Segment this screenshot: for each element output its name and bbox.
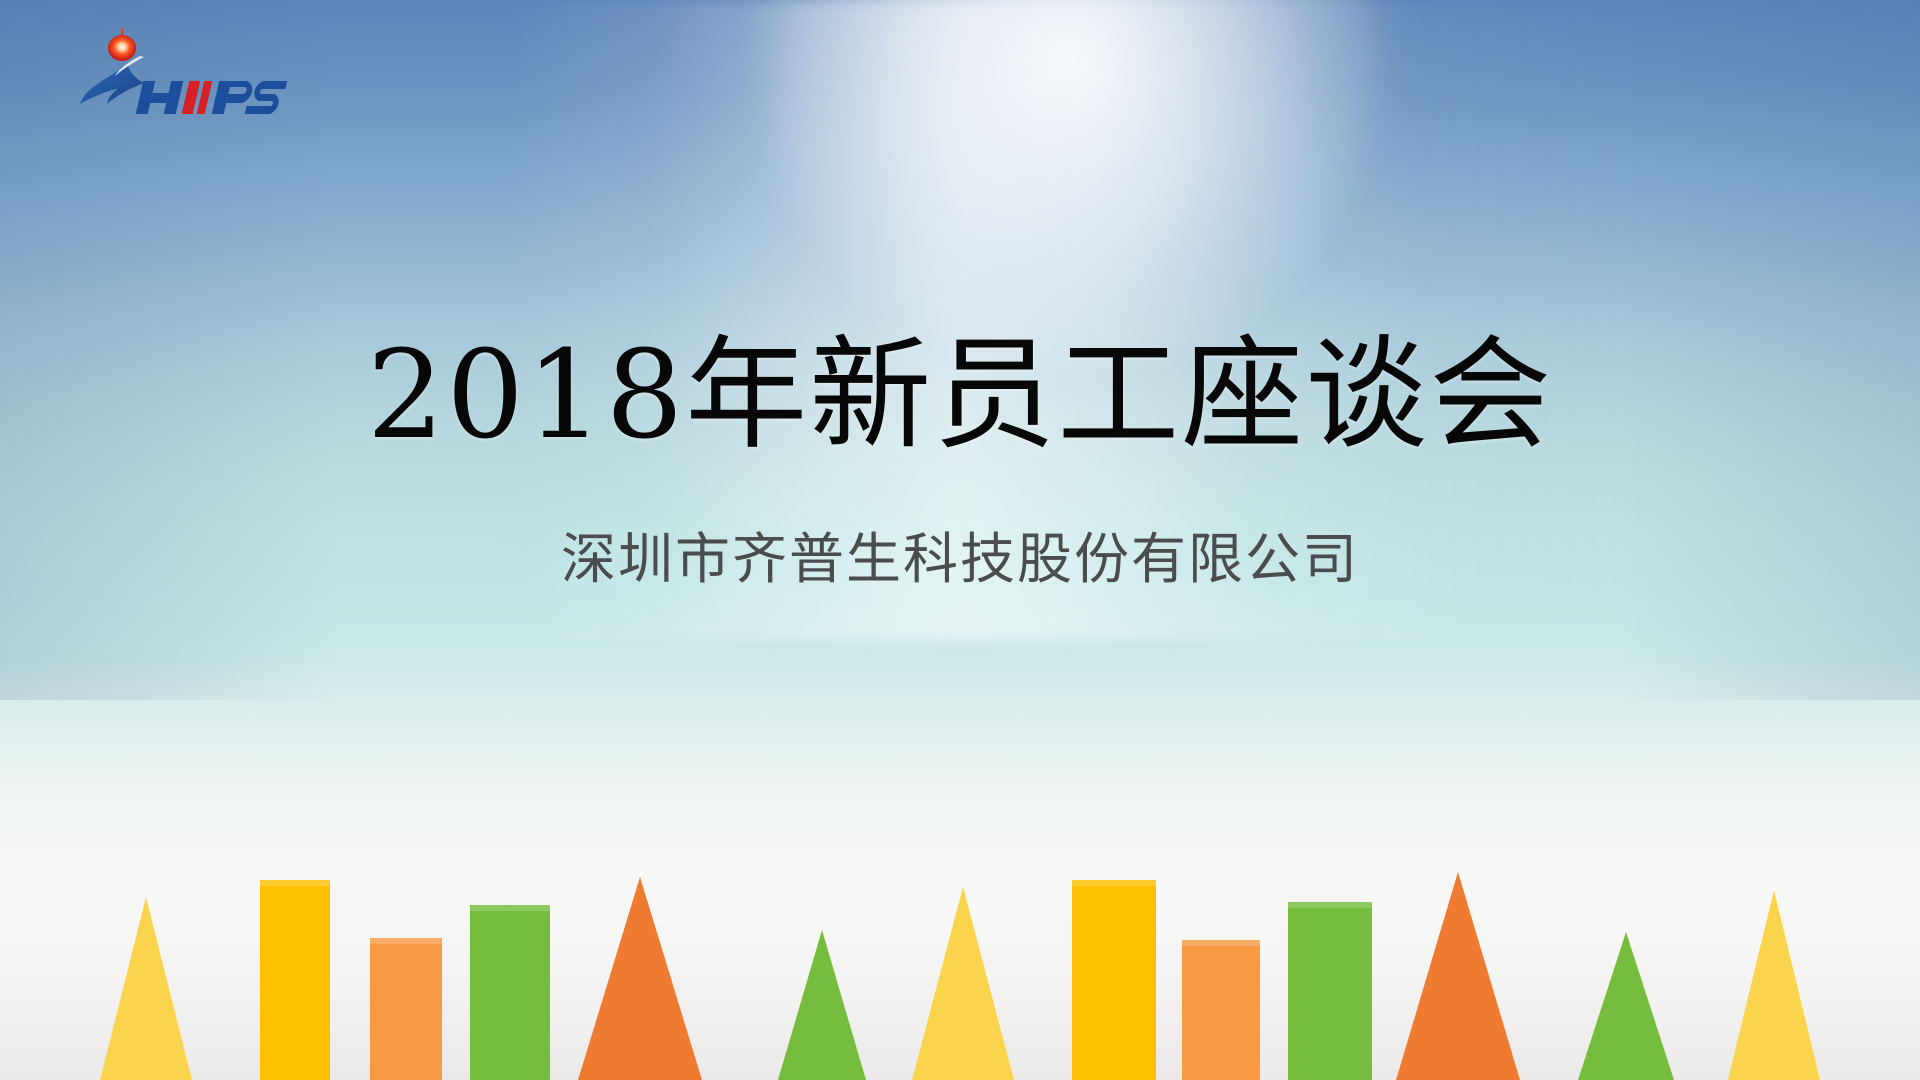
logo-wordmark — [136, 81, 288, 114]
decoration-triangle-11 — [1578, 932, 1674, 1080]
hips-logo — [78, 26, 308, 118]
decoration-triangle-6 — [912, 887, 1014, 1080]
page-title: 2018年新员工座谈会 — [0, 330, 1920, 462]
decoration-triangle-12 — [1728, 890, 1820, 1080]
decoration-triangle-4 — [578, 877, 702, 1080]
decoration-bar-9 — [1288, 902, 1372, 1080]
decoration-bar-7 — [1072, 880, 1156, 1080]
logo-spark-icon — [108, 35, 136, 61]
decoration-bar-8 — [1182, 940, 1260, 1080]
title-slide: 2018年新员工座谈会 深圳市齐普生科技股份有限公司 — [0, 0, 1920, 1080]
title-block: 2018年新员工座谈会 深圳市齐普生科技股份有限公司 — [0, 330, 1920, 594]
decoration-triangle-0 — [100, 897, 192, 1080]
page-subtitle: 深圳市齐普生科技股份有限公司 — [0, 514, 1920, 594]
logo-spark-tail-icon — [121, 27, 123, 36]
logo-swoosh-icon — [80, 59, 144, 104]
decoration-bar-2 — [370, 938, 442, 1080]
hips-logo-svg — [78, 26, 308, 118]
bottom-shape-band — [0, 870, 1920, 1080]
decoration-triangle-5 — [778, 930, 866, 1080]
decoration-bar-3 — [470, 905, 550, 1080]
decoration-triangle-10 — [1396, 872, 1520, 1080]
decoration-bar-1 — [260, 880, 330, 1080]
